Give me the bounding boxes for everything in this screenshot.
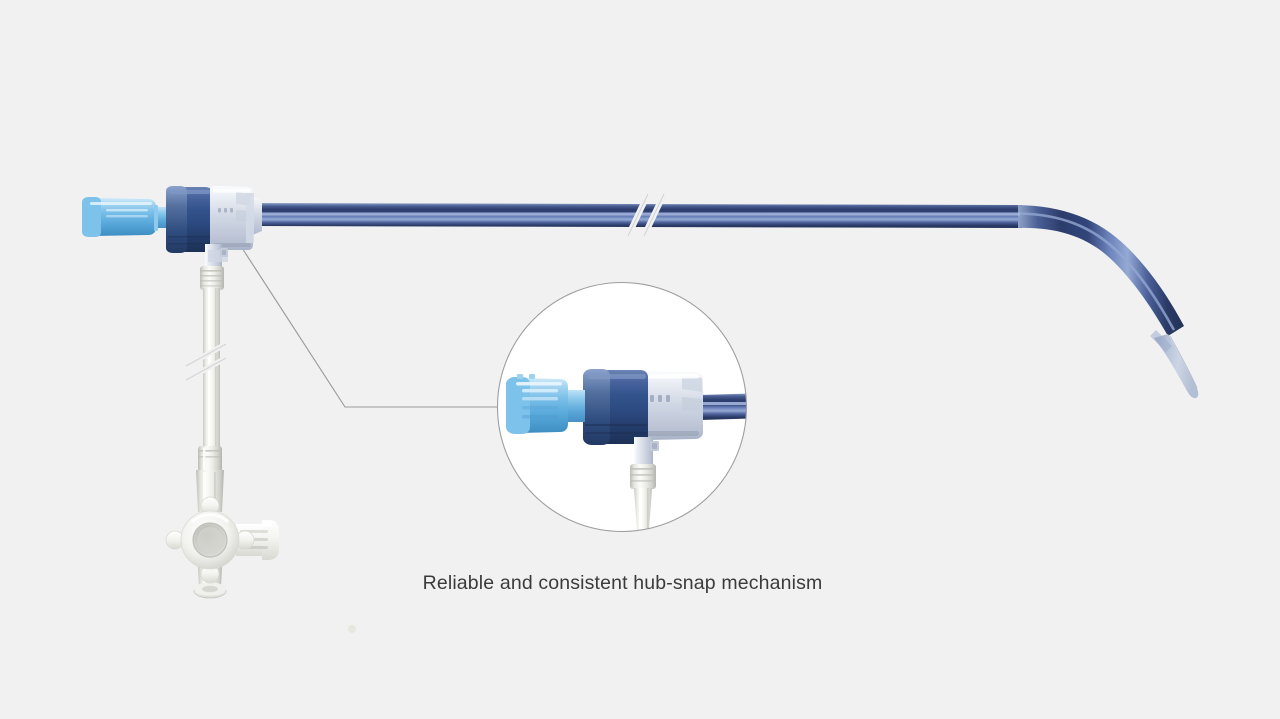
illustration-stage: Reliable and consistent hub-snap mechani… bbox=[0, 0, 1280, 719]
inset-hub-body bbox=[640, 371, 703, 440]
faint-mark bbox=[348, 625, 356, 633]
inset-snap-collar bbox=[583, 369, 648, 445]
callout-caption: Reliable and consistent hub-snap mechani… bbox=[0, 572, 1245, 595]
tube-connector-lower bbox=[198, 446, 222, 472]
inset-luer-cap bbox=[506, 374, 568, 434]
hub-snap-collar bbox=[166, 186, 212, 253]
break-mark-shaft bbox=[605, 194, 664, 236]
product-illustration bbox=[0, 0, 1280, 719]
